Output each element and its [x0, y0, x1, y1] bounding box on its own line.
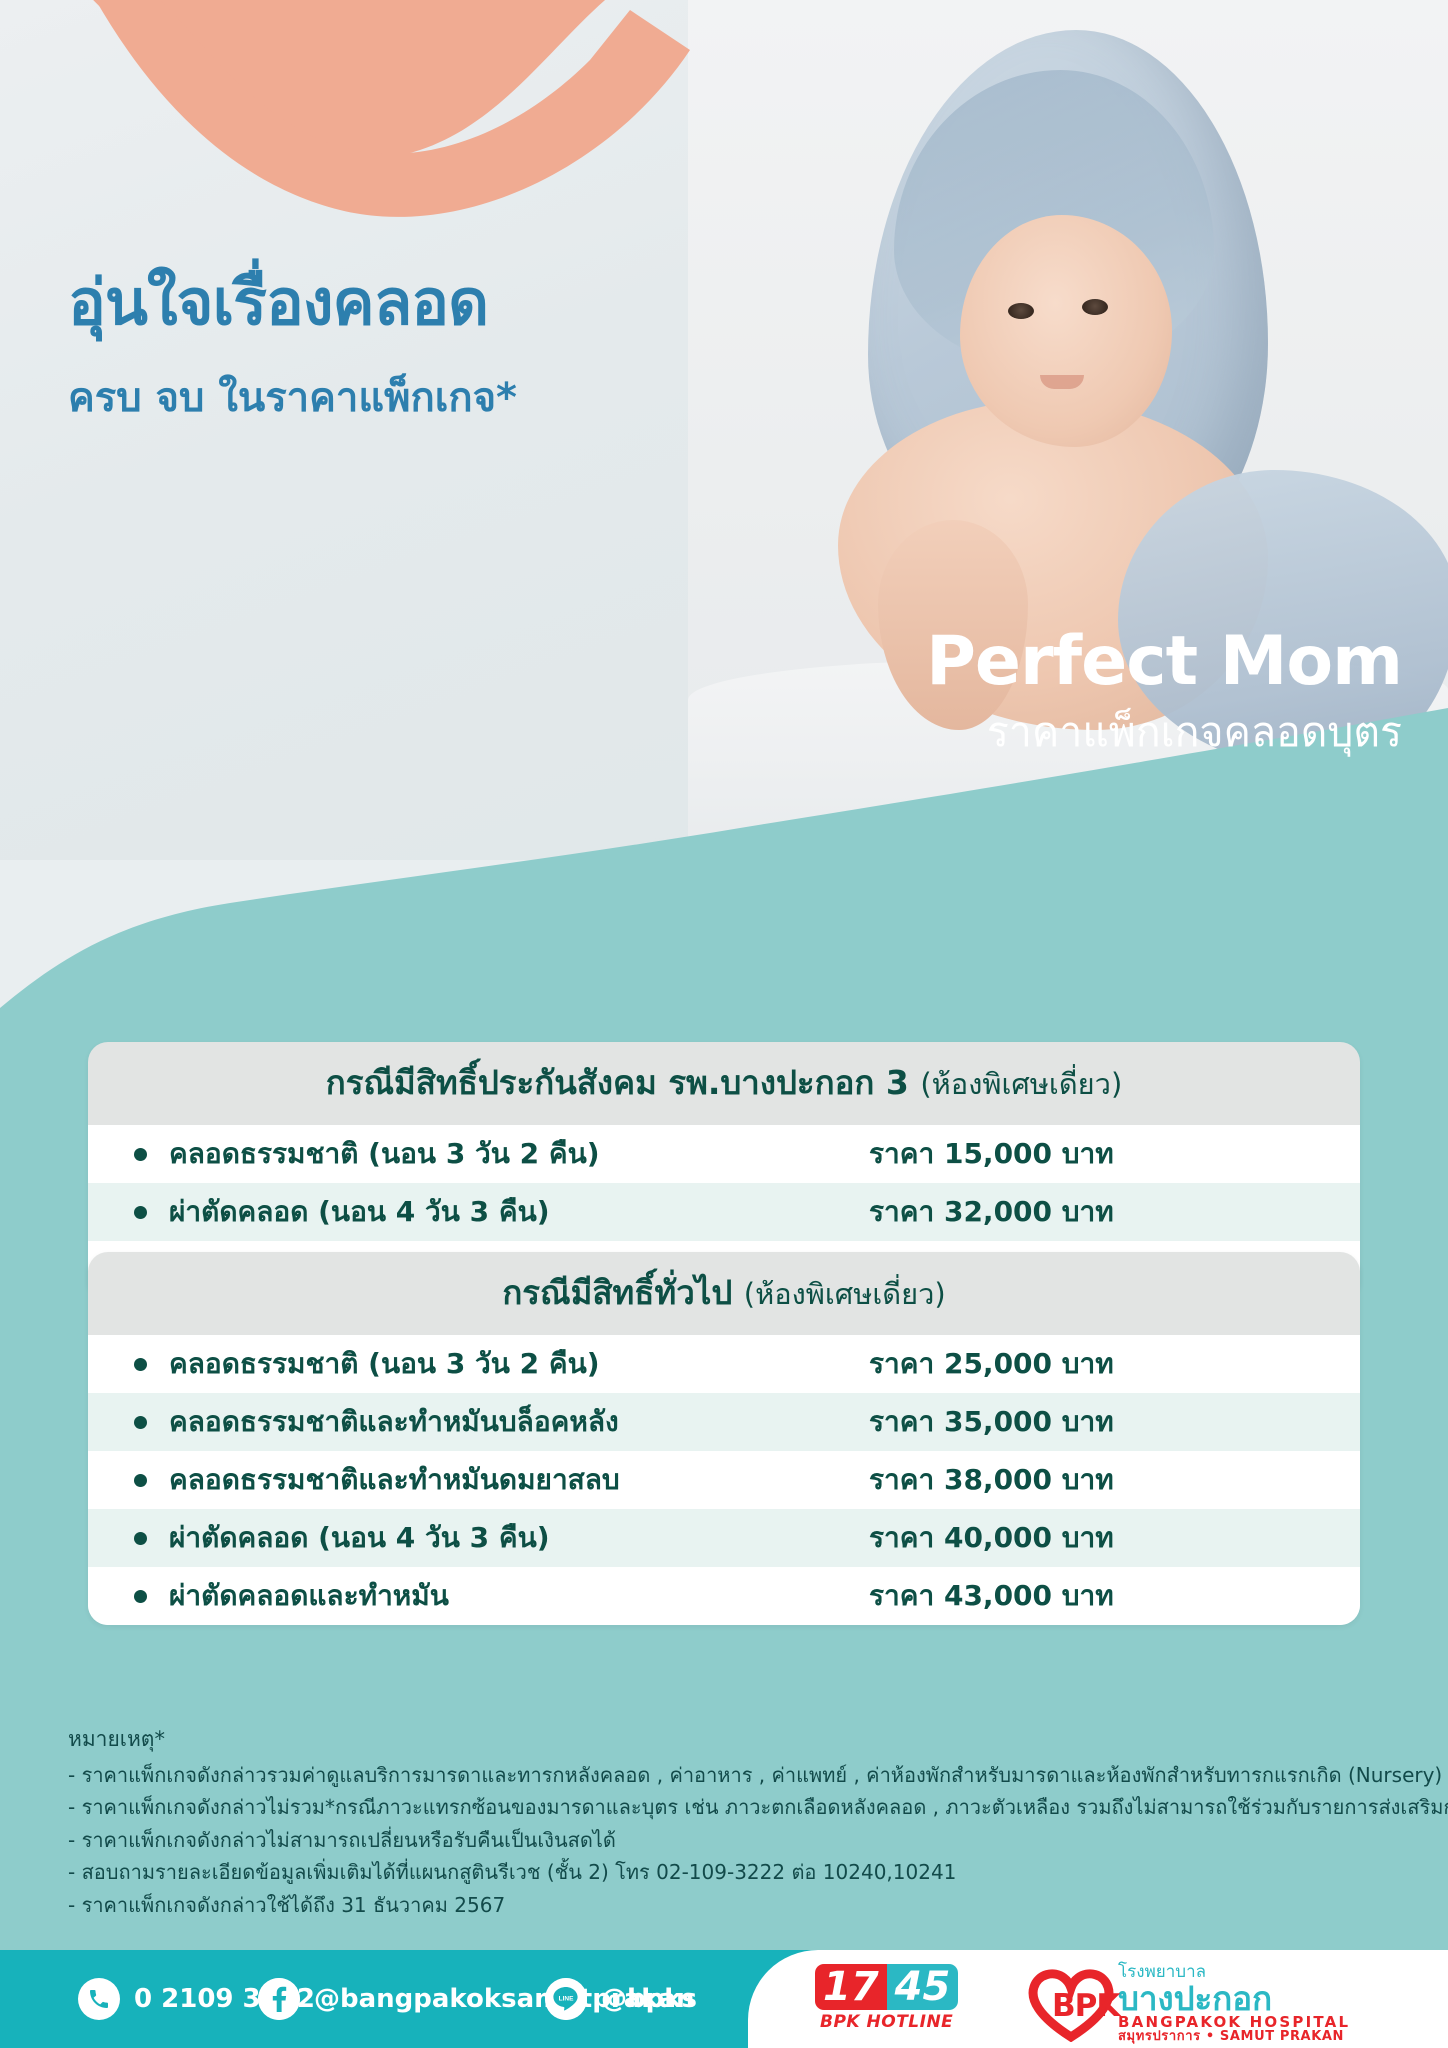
row-price: ราคา 35,000 บาท: [869, 1400, 1114, 1444]
footer-line-text: @bpks: [601, 1984, 697, 2014]
table-header-sub: (ห้องพิเศษเดี่ยว): [920, 1067, 1122, 1101]
facebook-icon: [258, 1978, 300, 2020]
hotline-number-red: 17: [815, 1964, 887, 2010]
table-row: ผ่าตัดคลอด (นอน 4 วัน 3 คืน) ราคา 32,000…: [88, 1183, 1360, 1241]
note-line: - สอบถามรายละเอียดข้อมูลเพิ่มเติมได้ที่แ…: [68, 1856, 1398, 1888]
row-price: ราคา 32,000 บาท: [869, 1190, 1114, 1234]
line-icon: LINE: [545, 1978, 587, 2020]
bullet-icon: [134, 1358, 147, 1371]
row-price: ราคา 15,000 บาท: [869, 1132, 1114, 1176]
line-icon-label: LINE: [559, 1996, 574, 2003]
poster-root: อุ่นใจเรื่องคลอด ครบ จบ ในราคาแพ็กเกจ* P…: [0, 0, 1448, 2048]
row-price: ราคา 40,000 บาท: [869, 1516, 1114, 1560]
note-line: - ราคาแพ็กเกจดังกล่าวใช้ได้ถึง 31 ธันวาค…: [68, 1889, 1398, 1921]
bullet-icon: [134, 1474, 147, 1487]
note-line: - ราคาแพ็กเกจดังกล่าวไม่รวม*กรณีภาวะแทรก…: [68, 1791, 1398, 1823]
notes-title: หมายเหตุ*: [68, 1722, 1398, 1756]
table-rows: คลอดธรรมชาติ (นอน 3 วัน 2 คืน) ราคา 25,0…: [88, 1335, 1360, 1625]
row-price: ราคา 25,000 บาท: [869, 1342, 1114, 1386]
hospital-logo-abbr: BPK: [1052, 1988, 1119, 2024]
bullet-icon: [134, 1148, 147, 1161]
row-label: คลอดธรรมชาติและทำหมันดมยาสลบ: [169, 1458, 620, 1502]
row-label: คลอดธรรมชาติ (นอน 3 วัน 2 คืน): [169, 1342, 600, 1386]
row-label: คลอดธรรมชาติและทำหมันบล็อคหลัง: [169, 1400, 619, 1444]
baby-eye-right: [1082, 299, 1108, 315]
baby-eye-left: [1008, 303, 1034, 319]
baby-face: [960, 215, 1172, 447]
notes-section: หมายเหตุ* - ราคาแพ็กเกจดังกล่าวรวมค่าดูแ…: [68, 1722, 1398, 1921]
table-header: กรณีมีสิทธิ์ทั่วไป (ห้องพิเศษเดี่ยว): [88, 1252, 1360, 1335]
note-line: - ราคาแพ็กเกจดังกล่าวไม่สามารถเปลี่ยนหรื…: [68, 1824, 1398, 1856]
footer-line[interactable]: LINE @bpks: [545, 1978, 697, 2020]
table-row: คลอดธรรมชาติและทำหมันบล็อคหลัง ราคา 35,0…: [88, 1393, 1360, 1451]
hotline-number: 17 45: [815, 1964, 958, 2010]
row-label: ผ่าตัดคลอด (นอน 4 วัน 3 คืน): [169, 1516, 550, 1560]
peach-swoosh-decoration: [0, 0, 770, 300]
row-label: ผ่าตัดคลอดและทำหมัน: [169, 1574, 449, 1618]
brand-title: Perfect Mom: [926, 628, 1402, 696]
hotline-label: BPK HOTLINE: [815, 2012, 958, 2032]
table-row: คลอดธรรมชาติ (นอน 3 วัน 2 คืน) ราคา 15,0…: [88, 1125, 1360, 1183]
hospital-province: สมุทรปราการ • SAMUT PRAKAN: [1118, 2030, 1350, 2044]
hospital-name-en: BANGPAKOK HOSPITAL: [1118, 2015, 1350, 2031]
page-subheadline: ครบ จบ ในราคาแพ็กเกจ*: [68, 365, 517, 429]
hotline-number-teal: 45: [887, 1964, 959, 2010]
bullet-icon: [134, 1206, 147, 1219]
brand-subtitle: ราคาแพ็กเกจคลอดบุตร: [987, 712, 1402, 753]
baby-mouth: [1040, 375, 1084, 389]
hospital-logo: BPK โรงพยาบาล บางปะกอก BANGPAKOK HOSPITA…: [1028, 1964, 1350, 2044]
table-header-main: กรณีมีสิทธิ์ทั่วไป: [502, 1273, 732, 1312]
note-line: - ราคาแพ็กเกจดังกล่าวรวมค่าดูแลบริการมาร…: [68, 1759, 1398, 1791]
table-row: ผ่าตัดคลอดและทำหมัน ราคา 43,000 บาท: [88, 1567, 1360, 1625]
row-label: คลอดธรรมชาติ (นอน 3 วัน 2 คืน): [169, 1132, 600, 1176]
page-headline: อุ่นใจเรื่องคลอด: [68, 270, 488, 336]
bullet-icon: [134, 1416, 147, 1429]
table-row: คลอดธรรมชาติ (นอน 3 วัน 2 คืน) ราคา 25,0…: [88, 1335, 1360, 1393]
row-price: ราคา 38,000 บาท: [869, 1458, 1114, 1502]
hospital-name-th: บางปะกอก: [1118, 1982, 1350, 2015]
hotline-logo: 17 45 BPK HOTLINE: [815, 1964, 958, 2032]
hospital-logo-text: โรงพยาบาล บางปะกอก BANGPAKOK HOSPITAL สม…: [1118, 1964, 1350, 2044]
bullet-icon: [134, 1590, 147, 1603]
package-table-general: กรณีมีสิทธิ์ทั่วไป (ห้องพิเศษเดี่ยว) คลอ…: [88, 1252, 1360, 1625]
footer-bar: 0 2109 3222 @bangpakoksamutprakan LINE @…: [0, 1950, 1448, 2048]
table-row: คลอดธรรมชาติและทำหมันดมยาสลบ ราคา 38,000…: [88, 1451, 1360, 1509]
phone-icon: [78, 1978, 120, 2020]
table-header-sub: (ห้องพิเศษเดี่ยว): [744, 1277, 946, 1311]
table-header: กรณีมีสิทธิ์ประกันสังคม รพ.บางปะกอก 3 (ห…: [88, 1042, 1360, 1125]
heart-icon: BPK: [1028, 1966, 1114, 2042]
row-label: ผ่าตัดคลอด (นอน 4 วัน 3 คืน): [169, 1190, 550, 1234]
table-header-main: กรณีมีสิทธิ์ประกันสังคม รพ.บางปะกอก 3: [326, 1063, 909, 1102]
table-row: ผ่าตัดคลอด (นอน 4 วัน 3 คืน) ราคา 40,000…: [88, 1509, 1360, 1567]
bullet-icon: [134, 1532, 147, 1545]
row-price: ราคา 43,000 บาท: [869, 1574, 1114, 1618]
